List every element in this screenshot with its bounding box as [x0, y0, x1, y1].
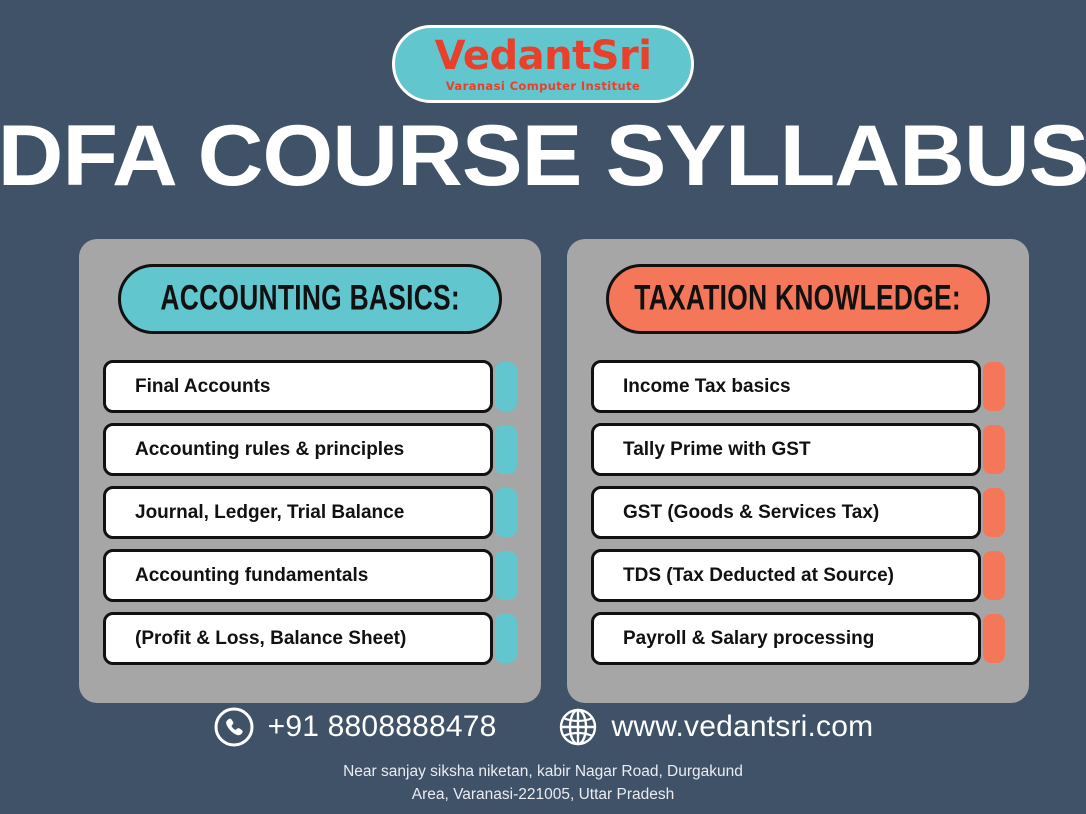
list-item[interactable]: GST (Goods & Services Tax) [591, 486, 1005, 539]
item-label: Journal, Ledger, Trial Balance [135, 502, 404, 524]
address-line-1: Near sanjay siksha niketan, kabir Nagar … [0, 761, 1086, 784]
item-list-accounting-basics: Final Accounts Accounting rules & princi… [100, 360, 520, 665]
phone-icon [213, 706, 255, 748]
item-accent-bar [983, 551, 1005, 600]
section-header-accounting-basics: ACCOUNTING BASICS: [118, 264, 502, 334]
list-item[interactable]: Accounting rules & principles [103, 423, 517, 476]
item-label: Accounting rules & principles [135, 439, 404, 461]
section-header-label: TAXATION KNOWLEDGE: [635, 279, 962, 318]
item-list-taxation-knowledge: Income Tax basics Tally Prime with GST G… [588, 360, 1008, 665]
section-header-label: ACCOUNTING BASICS: [160, 279, 460, 318]
logo-tagline: Varanasi Computer Institute [446, 79, 640, 93]
phone-number: +91 8808888478 [268, 710, 497, 744]
list-item[interactable]: Income Tax basics [591, 360, 1005, 413]
panel-taxation-knowledge: TAXATION KNOWLEDGE: Income Tax basics Ta… [567, 239, 1029, 703]
address-line-2: Area, Varanasi-221005, Uttar Pradesh [0, 784, 1086, 807]
item-card[interactable]: Tally Prime with GST [591, 423, 981, 476]
item-label: Income Tax basics [623, 376, 791, 398]
address-block: Near sanjay siksha niketan, kabir Nagar … [0, 761, 1086, 807]
list-item[interactable]: Final Accounts [103, 360, 517, 413]
page-title: DFA COURSE SYLLABUS [0, 113, 1086, 199]
item-accent-bar [495, 614, 517, 663]
list-item[interactable]: Journal, Ledger, Trial Balance [103, 486, 517, 539]
panel-accounting-basics: ACCOUNTING BASICS: Final Accounts Accoun… [79, 239, 541, 703]
item-card[interactable]: Final Accounts [103, 360, 493, 413]
list-item[interactable]: (Profit & Loss, Balance Sheet) [103, 612, 517, 665]
list-item[interactable]: TDS (Tax Deducted at Source) [591, 549, 1005, 602]
item-label: Final Accounts [135, 376, 270, 398]
website-url: www.vedantsri.com [612, 710, 874, 744]
item-accent-bar [983, 488, 1005, 537]
item-label: GST (Goods & Services Tax) [623, 502, 879, 524]
item-card[interactable]: Accounting fundamentals [103, 549, 493, 602]
section-header-taxation-knowledge: TAXATION KNOWLEDGE: [606, 264, 990, 334]
item-label: Accounting fundamentals [135, 565, 368, 587]
item-card[interactable]: Journal, Ledger, Trial Balance [103, 486, 493, 539]
item-accent-bar [983, 362, 1005, 411]
item-accent-bar [495, 551, 517, 600]
item-card[interactable]: Payroll & Salary processing [591, 612, 981, 665]
item-card[interactable]: TDS (Tax Deducted at Source) [591, 549, 981, 602]
list-item[interactable]: Accounting fundamentals [103, 549, 517, 602]
item-card[interactable]: GST (Goods & Services Tax) [591, 486, 981, 539]
item-label: (Profit & Loss, Balance Sheet) [135, 628, 406, 650]
item-card[interactable]: Income Tax basics [591, 360, 981, 413]
item-accent-bar [983, 614, 1005, 663]
item-label: Tally Prime with GST [623, 439, 811, 461]
item-label: TDS (Tax Deducted at Source) [623, 565, 894, 587]
globe-icon [557, 706, 599, 748]
item-label: Payroll & Salary processing [623, 628, 874, 650]
brand-logo: VedantSri Varanasi Computer Institute [0, 25, 1086, 103]
footer: +91 8808888478 www.vedantsri.com Near sa… [0, 706, 1086, 807]
item-card[interactable]: (Profit & Loss, Balance Sheet) [103, 612, 493, 665]
list-item[interactable]: Tally Prime with GST [591, 423, 1005, 476]
contact-website[interactable]: www.vedantsri.com [557, 706, 874, 748]
logo-name: VedantSri [435, 37, 652, 75]
item-accent-bar [495, 362, 517, 411]
list-item[interactable]: Payroll & Salary processing [591, 612, 1005, 665]
item-card[interactable]: Accounting rules & principles [103, 423, 493, 476]
syllabus-panels: ACCOUNTING BASICS: Final Accounts Accoun… [79, 239, 1029, 703]
logo-pill: VedantSri Varanasi Computer Institute [392, 25, 694, 103]
contact-row: +91 8808888478 www.vedantsri.com [0, 706, 1086, 748]
item-accent-bar [495, 425, 517, 474]
item-accent-bar [983, 425, 1005, 474]
item-accent-bar [495, 488, 517, 537]
contact-phone[interactable]: +91 8808888478 [213, 706, 497, 748]
